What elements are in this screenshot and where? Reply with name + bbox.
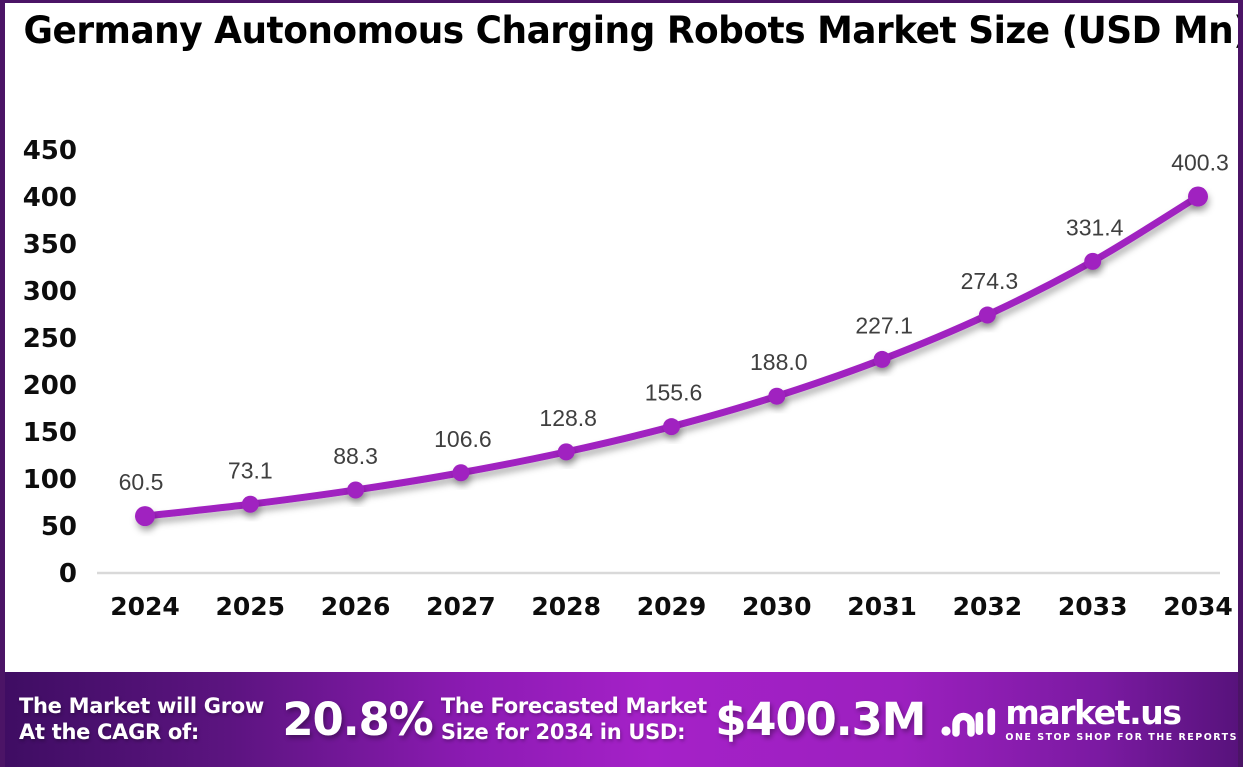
data-point-label: 331.4 xyxy=(1066,214,1124,240)
data-point-label: 188.0 xyxy=(750,349,808,375)
x-axis-tick-label: 2024 xyxy=(110,592,180,621)
page-title: Germany Autonomous Charging Robots Marke… xyxy=(23,9,1219,52)
y-axis-tick-label: 350 xyxy=(23,230,77,260)
data-point-marker[interactable] xyxy=(768,388,785,405)
y-axis-tick-label: 250 xyxy=(23,324,77,354)
data-point-label: 128.8 xyxy=(539,405,597,431)
data-point-label: 274.3 xyxy=(961,268,1019,294)
x-axis-tick-label: 2034 xyxy=(1163,592,1233,621)
y-axis-tick-label: 400 xyxy=(23,183,77,213)
forecast-caption-line1: The Forecasted Market xyxy=(441,694,707,720)
data-point-label: 106.6 xyxy=(434,426,492,452)
data-point-label: 227.1 xyxy=(855,312,913,338)
x-axis-tick-label: 2033 xyxy=(1058,592,1128,621)
logo-tagline: ONE STOP SHOP FOR THE REPORTS xyxy=(1005,732,1238,743)
cagr-caption-line1: The Market will Grow xyxy=(19,694,264,720)
y-axis-tick-label: 300 xyxy=(23,277,77,307)
forecast-value: $400.3M xyxy=(715,693,925,746)
footer-banner: The Market will Grow At the CAGR of: 20.… xyxy=(5,672,1243,767)
data-point-marker[interactable] xyxy=(135,506,155,526)
chart-title-bar: Germany Autonomous Charging Robots Marke… xyxy=(5,9,1238,52)
logo-wordmark: market.us xyxy=(1005,696,1238,729)
cagr-caption-line2: At the CAGR of: xyxy=(19,720,264,746)
cagr-value: 20.8% xyxy=(282,693,432,746)
data-point-label: 73.1 xyxy=(228,457,273,483)
x-axis-tick-label: 2030 xyxy=(742,592,812,621)
data-point-marker[interactable] xyxy=(874,351,891,368)
y-axis-tick-label: 200 xyxy=(23,371,77,401)
data-point-label: 88.3 xyxy=(333,443,378,469)
y-axis-tick-label: 150 xyxy=(23,418,77,448)
data-point-marker[interactable] xyxy=(663,418,680,435)
data-point-marker[interactable] xyxy=(242,496,259,513)
data-point-label: 400.3 xyxy=(1171,150,1229,176)
x-axis-tick-label: 2026 xyxy=(321,592,391,621)
logo-mark-icon xyxy=(941,700,997,740)
data-point-marker[interactable] xyxy=(347,481,364,498)
data-point-marker[interactable] xyxy=(1084,253,1101,270)
data-point-marker[interactable] xyxy=(452,464,469,481)
data-point-label: 60.5 xyxy=(119,469,164,495)
forecast-block: The Forecasted Market Size for 2034 in U… xyxy=(441,694,707,745)
market-us-logo[interactable]: market.us ONE STOP SHOP FOR THE REPORTS xyxy=(941,696,1238,743)
y-axis-tick-label: 50 xyxy=(41,512,77,542)
infographic-root: Germany Autonomous Charging Robots Marke… xyxy=(0,0,1243,767)
logo-text: market.us ONE STOP SHOP FOR THE REPORTS xyxy=(1005,696,1238,743)
y-axis-tick-label: 100 xyxy=(23,465,77,495)
chart-plot-area: 0501001502002503003504004502024202520262… xyxy=(5,73,1238,673)
x-axis-tick-label: 2031 xyxy=(847,592,917,621)
data-point-marker[interactable] xyxy=(558,443,575,460)
line-chart: 0501001502002503003504004502024202520262… xyxy=(5,73,1238,673)
series-line xyxy=(145,197,1198,517)
y-axis-tick-label: 450 xyxy=(23,136,77,166)
cagr-caption: The Market will Grow At the CAGR of: xyxy=(19,694,264,745)
x-axis-tick-label: 2025 xyxy=(216,592,286,621)
x-axis-tick-label: 2029 xyxy=(637,592,707,621)
forecast-caption: The Forecasted Market Size for 2034 in U… xyxy=(441,694,707,745)
y-axis-tick-label: 0 xyxy=(59,559,77,589)
cagr-block: The Market will Grow At the CAGR of: xyxy=(19,694,264,745)
x-axis-tick-label: 2027 xyxy=(426,592,496,621)
x-axis-tick-label: 2032 xyxy=(953,592,1023,621)
data-point-marker[interactable] xyxy=(1188,187,1208,207)
forecast-caption-line2: Size for 2034 in USD: xyxy=(441,720,707,746)
x-axis-tick-label: 2028 xyxy=(531,592,601,621)
data-point-marker[interactable] xyxy=(979,307,996,324)
data-point-label: 155.6 xyxy=(645,380,703,406)
